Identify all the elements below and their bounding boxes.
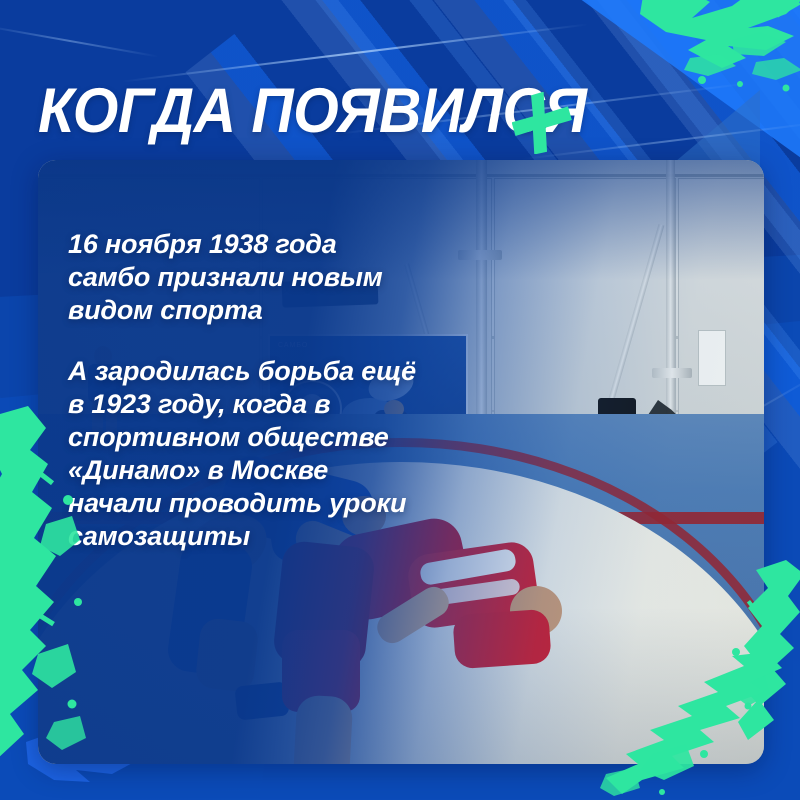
green-paint-splatter-top-right-icon — [636, 0, 800, 164]
body-paragraph-1: 16 ноября 1938 года самбо признали новым… — [68, 228, 418, 327]
poster-canvas: КОГДА ПОЯВИЛСЯ — [0, 0, 800, 800]
body-paragraph-2: А зародилась борьба ещё в 1923 году, ког… — [68, 355, 418, 553]
page-title: КОГДА ПОЯВИЛСЯ — [38, 78, 586, 144]
green-plus-icon — [512, 92, 574, 159]
green-paint-splatter-left-icon — [0, 404, 96, 784]
green-paint-splatter-bottom-icon — [598, 646, 788, 796]
body-copy: 16 ноября 1938 года самбо признали новым… — [68, 228, 418, 553]
